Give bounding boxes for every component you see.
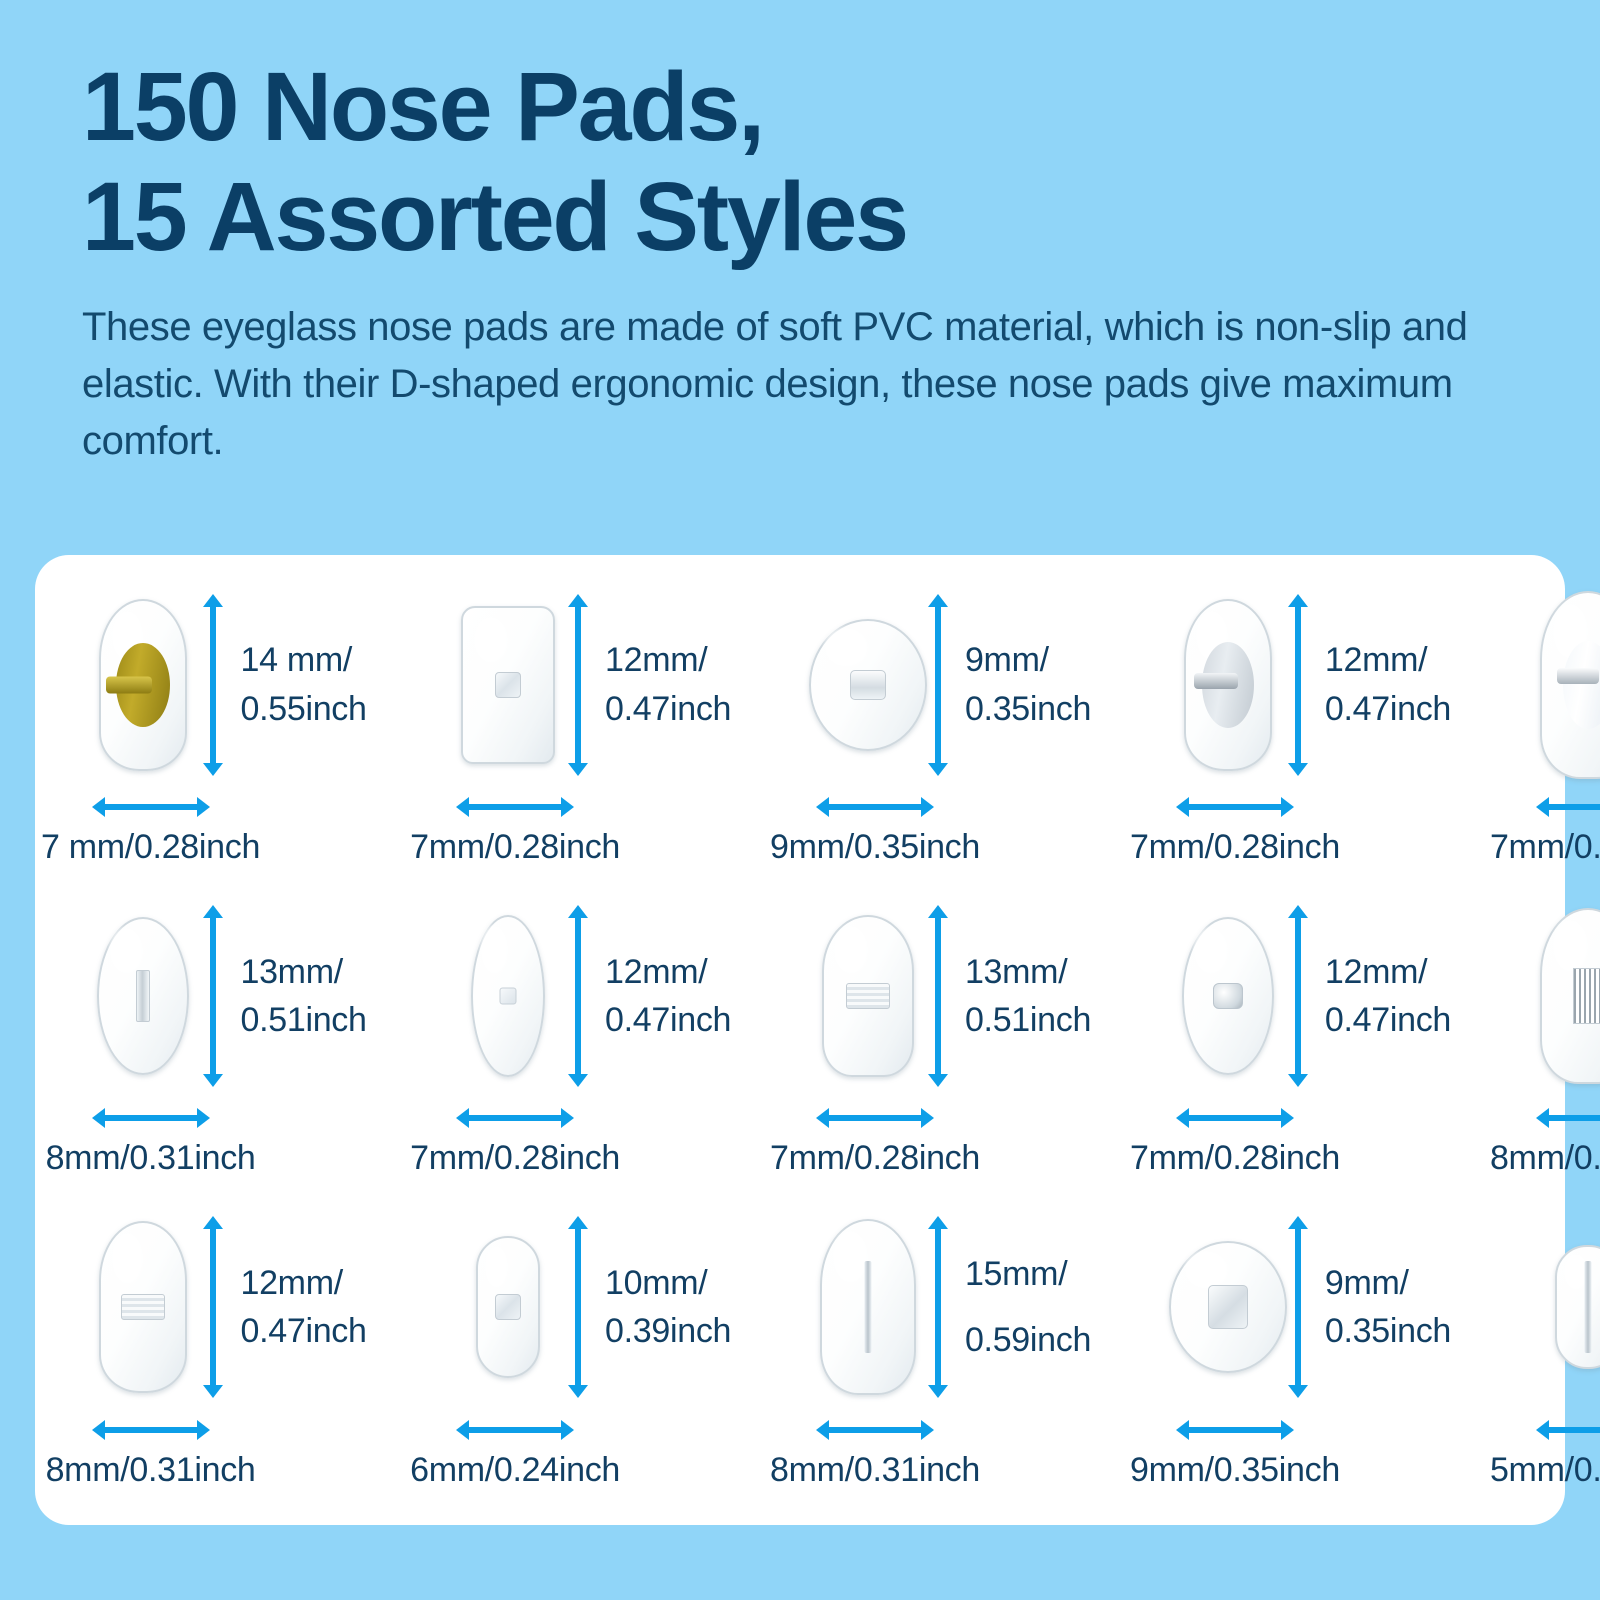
pad-width-label: 7mm/0.28inch xyxy=(770,1139,980,1178)
nose-pad-item: 14 mm/ 0.55inch7 mm/0.28inch xyxy=(41,577,410,888)
vertical-double-arrow-icon xyxy=(567,594,589,776)
pad-insert-clip-icon xyxy=(495,672,521,698)
pad-insert-vbar-icon xyxy=(136,970,150,1022)
nose-pad-item: 9mm/ 0.35inch9mm/0.35inch xyxy=(1130,1200,1490,1511)
vertical-double-arrow-icon xyxy=(202,1216,224,1398)
nose-pad-item: 15mm/ 0.59inch8mm/0.31inch xyxy=(770,1200,1130,1511)
nose-pad-shape-barrel xyxy=(461,606,555,764)
nose-pad-shape-oval xyxy=(97,917,189,1075)
nose-pad-item: 12mm/ 0.47inch7mm/0.28inch xyxy=(410,577,770,888)
height-measure: 12mm/ 0.47inch xyxy=(1287,888,1451,1103)
pad-height-label: 13mm/ 0.51inch xyxy=(240,948,366,1045)
pad-insert-white-oval-icon xyxy=(1563,641,1600,729)
pad-width-label: 7mm/0.28inch xyxy=(410,828,620,867)
nose-pad-item: 12mm/ 0.47inch7mm/0.28inch xyxy=(1130,577,1490,888)
pad-image-column xyxy=(1169,577,1287,792)
pad-width-label: 7 mm/0.28inch xyxy=(41,828,260,867)
height-measure: 12mm/ 0.47inch xyxy=(1287,577,1451,792)
pad-width-label: 9mm/0.35inch xyxy=(770,828,980,867)
pad-image-column xyxy=(809,888,927,1103)
pad-width-label: 7mm/0.28inch xyxy=(1130,828,1340,867)
pad-image-column xyxy=(84,888,202,1103)
nose-pad-shape-oval xyxy=(1182,917,1274,1075)
pad-image-column xyxy=(809,1200,927,1415)
pad-and-height-row: 10mm/ 0.39inch xyxy=(449,1200,731,1415)
nose-pad-shape-circle xyxy=(1169,1241,1287,1373)
vertical-double-arrow-icon xyxy=(202,905,224,1087)
horizontal-double-arrow-icon xyxy=(92,1419,210,1441)
pad-image-column xyxy=(1169,888,1287,1103)
pad-and-height-row: 15mm/ 0.59inch xyxy=(1529,888,1600,1103)
nose-pad-shape-dshape xyxy=(822,915,914,1077)
nose-pad-item: 15mm/ 0.59inch8mm/0.31inch xyxy=(1490,888,1600,1199)
nose-pad-item: 9mm/ 0.35inch9mm/0.35inch xyxy=(770,577,1130,888)
pad-width-label: 8mm/0.31inch xyxy=(46,1139,256,1178)
pad-insert-vline-icon xyxy=(864,1261,871,1353)
horizontal-double-arrow-icon xyxy=(92,1107,210,1129)
pad-width-label: 7mm/0.28inch xyxy=(410,1139,620,1178)
nose-pad-shape-pillsm xyxy=(476,1236,540,1378)
nose-pad-shape-teardrop xyxy=(1184,599,1272,771)
vertical-double-arrow-icon xyxy=(1287,1216,1309,1398)
height-measure: 9mm/ 0.35inch xyxy=(927,577,1091,792)
nose-pad-shape-oval-slim xyxy=(471,915,545,1077)
pad-and-height-row: 14mm/ 0.55inch xyxy=(1529,577,1600,792)
pad-image-column xyxy=(1169,1200,1287,1415)
horizontal-double-arrow-icon xyxy=(816,1107,934,1129)
nose-pad-item: 8mm/ 0.31inch5mm/0.20inch xyxy=(1490,1200,1600,1511)
pad-and-height-row: 14 mm/ 0.55inch xyxy=(84,577,366,792)
nose-pad-shape-teardrop xyxy=(99,1221,187,1393)
nose-pad-item: 12mm/ 0.47inch7mm/0.28inch xyxy=(410,888,770,1199)
pad-and-height-row: 12mm/ 0.47inch xyxy=(449,888,731,1103)
horizontal-double-arrow-icon xyxy=(1176,1107,1294,1129)
pad-width-label: 7mm/0.28inch xyxy=(1130,1139,1340,1178)
header: 150 Nose Pads, 15 Assorted Styles These … xyxy=(82,52,1532,470)
pad-and-height-row: 12mm/ 0.47inch xyxy=(1169,577,1451,792)
pad-insert-post-icon xyxy=(1208,1285,1248,1329)
pad-insert-ribbed-icon xyxy=(846,983,890,1009)
horizontal-double-arrow-icon xyxy=(456,1107,574,1129)
horizontal-double-arrow-icon xyxy=(456,1419,574,1441)
pad-and-height-row: 12mm/ 0.47inch xyxy=(449,577,731,792)
pad-height-label: 9mm/ 0.35inch xyxy=(1325,1259,1451,1356)
pad-width-label: 8mm/0.31inch xyxy=(770,1451,980,1490)
pad-insert-vline-icon xyxy=(1584,1261,1591,1353)
height-measure: 15mm/ 0.59inch xyxy=(927,1200,1091,1415)
nose-pad-item: 13mm/ 0.51inch8mm/0.31inch xyxy=(41,888,410,1199)
pad-image-column xyxy=(84,1200,202,1415)
nose-pad-item: 12mm/ 0.47inch8mm/0.31inch xyxy=(41,1200,410,1511)
nose-pad-size-chart-card: 14 mm/ 0.55inch7 mm/0.28inch12mm/ 0.47in… xyxy=(35,555,1565,1525)
vertical-double-arrow-icon xyxy=(1287,905,1309,1087)
pad-and-height-row: 9mm/ 0.35inch xyxy=(809,577,1091,792)
pad-height-label: 15mm/ 0.59inch xyxy=(965,1241,1091,1374)
height-measure: 12mm/ 0.47inch xyxy=(567,888,731,1103)
page-title: 150 Nose Pads, 15 Assorted Styles xyxy=(82,52,1532,271)
pad-width-label: 6mm/0.24inch xyxy=(410,1451,620,1490)
horizontal-double-arrow-icon xyxy=(1536,1419,1600,1441)
pad-and-height-row: 9mm/ 0.35inch xyxy=(1169,1200,1451,1415)
pad-image-column xyxy=(84,577,202,792)
horizontal-double-arrow-icon xyxy=(816,1419,934,1441)
height-measure: 12mm/ 0.47inch xyxy=(567,577,731,792)
pad-image-column xyxy=(1529,577,1600,792)
pad-and-height-row: 13mm/ 0.51inch xyxy=(84,888,366,1103)
pad-and-height-row: 15mm/ 0.59inch xyxy=(809,1200,1091,1415)
pad-insert-clip-sm-icon xyxy=(499,987,516,1004)
pad-height-label: 12mm/ 0.47inch xyxy=(605,948,731,1045)
pad-image-column xyxy=(449,888,567,1103)
pad-and-height-row: 8mm/ 0.31inch xyxy=(1529,1200,1600,1415)
pad-insert-cyl-icon xyxy=(850,670,886,700)
nose-pad-grid: 14 mm/ 0.55inch7 mm/0.28inch12mm/ 0.47in… xyxy=(35,555,1565,1525)
pad-insert-ribbed-icon xyxy=(121,1294,165,1320)
nose-pad-item: 10mm/ 0.39inch6mm/0.24inch xyxy=(410,1200,770,1511)
nose-pad-shape-wedge xyxy=(1540,908,1600,1084)
pad-width-label: 8mm/0.31inch xyxy=(1490,1139,1600,1178)
pad-height-label: 12mm/ 0.47inch xyxy=(605,636,731,733)
nose-pad-item: 13mm/ 0.51inch7mm/0.28inch xyxy=(770,888,1130,1199)
pad-insert-gold-oval-icon xyxy=(116,643,170,727)
vertical-double-arrow-icon xyxy=(202,594,224,776)
pad-image-column xyxy=(449,1200,567,1415)
pad-insert-clip-icon xyxy=(495,1294,521,1320)
horizontal-double-arrow-icon xyxy=(1536,1107,1600,1129)
pad-height-label: 10mm/ 0.39inch xyxy=(605,1259,731,1356)
height-measure: 13mm/ 0.51inch xyxy=(927,888,1091,1103)
height-measure: 13mm/ 0.51inch xyxy=(202,888,366,1103)
height-measure: 12mm/ 0.47inch xyxy=(202,1200,366,1415)
pad-height-label: 12mm/ 0.47inch xyxy=(1325,948,1451,1045)
nose-pad-shape-teardrop xyxy=(99,599,187,771)
horizontal-double-arrow-icon xyxy=(1176,796,1294,818)
nose-pad-item: 12mm/ 0.47inch7mm/0.28inch xyxy=(1130,888,1490,1199)
pad-image-column xyxy=(1529,888,1600,1103)
nose-pad-item: 14mm/ 0.55inch7mm/0.28inch xyxy=(1490,577,1600,888)
horizontal-double-arrow-icon xyxy=(92,796,210,818)
pad-height-label: 12mm/ 0.47inch xyxy=(1325,636,1451,733)
pad-image-column xyxy=(449,577,567,792)
pad-and-height-row: 12mm/ 0.47inch xyxy=(1169,888,1451,1103)
pad-width-label: 8mm/0.31inch xyxy=(46,1451,256,1490)
pad-width-label: 5mm/0.20inch xyxy=(1490,1451,1600,1490)
height-measure: 14 mm/ 0.55inch xyxy=(202,577,366,792)
page-subtitle: These eyeglass nose pads are made of sof… xyxy=(82,299,1522,469)
pad-image-column xyxy=(809,577,927,792)
vertical-double-arrow-icon xyxy=(1287,594,1309,776)
vertical-double-arrow-icon xyxy=(927,594,949,776)
horizontal-double-arrow-icon xyxy=(816,796,934,818)
pad-width-label: 7mm/0.28inch xyxy=(1490,828,1600,867)
pad-width-label: 9mm/0.35inch xyxy=(1130,1451,1340,1490)
vertical-double-arrow-icon xyxy=(927,905,949,1087)
vertical-double-arrow-icon xyxy=(567,1216,589,1398)
pad-insert-barcode-icon xyxy=(1573,968,1600,1024)
vertical-double-arrow-icon xyxy=(567,905,589,1087)
horizontal-double-arrow-icon xyxy=(456,796,574,818)
pad-and-height-row: 13mm/ 0.51inch xyxy=(809,888,1091,1103)
pad-and-height-row: 12mm/ 0.47inch xyxy=(84,1200,366,1415)
pad-height-label: 14 mm/ 0.55inch xyxy=(240,636,366,733)
nose-pad-shape-pill xyxy=(1555,1245,1600,1369)
pad-height-label: 9mm/ 0.35inch xyxy=(965,636,1091,733)
horizontal-double-arrow-icon xyxy=(1176,1419,1294,1441)
pad-insert-gray-oval-icon xyxy=(1202,642,1254,728)
height-measure: 10mm/ 0.39inch xyxy=(567,1200,731,1415)
nose-pad-shape-teardrop-lg xyxy=(1540,591,1600,779)
pad-image-column xyxy=(1529,1200,1600,1415)
nose-pad-shape-circle xyxy=(809,619,927,751)
nose-pad-shape-wedge xyxy=(820,1219,916,1395)
pad-insert-knob-icon xyxy=(1213,983,1243,1009)
pad-height-label: 12mm/ 0.47inch xyxy=(240,1259,366,1356)
vertical-double-arrow-icon xyxy=(927,1216,949,1398)
height-measure: 9mm/ 0.35inch xyxy=(1287,1200,1451,1415)
horizontal-double-arrow-icon xyxy=(1536,796,1600,818)
pad-height-label: 13mm/ 0.51inch xyxy=(965,948,1091,1045)
